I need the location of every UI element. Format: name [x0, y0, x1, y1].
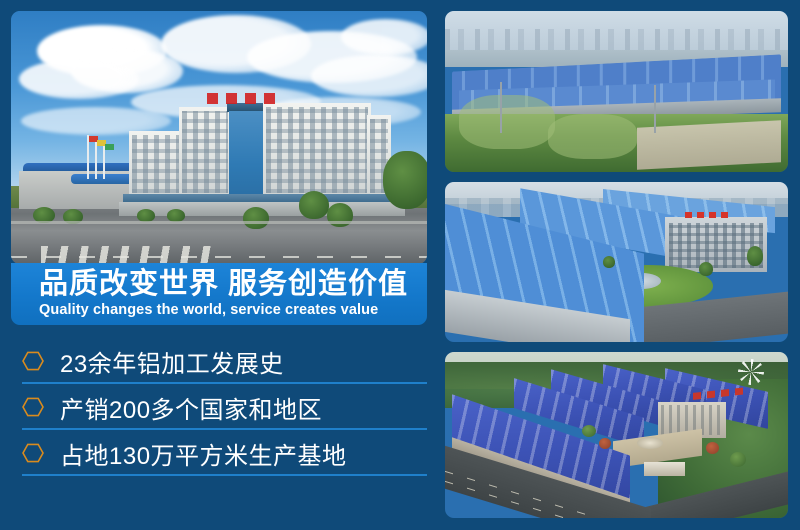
list-item-label: 产销200多个国家和地区: [60, 390, 322, 425]
window-grid: [132, 135, 184, 193]
field-patch: [459, 95, 555, 150]
hero-headquarters-photo: [11, 11, 427, 264]
hexagon-icon: [22, 442, 44, 464]
office-glass-atrium: [229, 111, 265, 201]
tree: [730, 452, 746, 467]
tree: [383, 151, 427, 209]
window-grid: [266, 107, 368, 193]
company-highlights-list: 23余年铝加工发展史 产销200多个国家和地区 占地130万平方米生产基地: [0, 338, 440, 476]
tree: [603, 256, 615, 268]
flag: [105, 144, 114, 150]
rooftop-company-sign: [207, 93, 283, 104]
tree: [582, 425, 596, 437]
cloud-shape: [19, 59, 139, 99]
office-wing-right: [263, 103, 371, 201]
tagline-banner: 品质改变世界 服务创造价值 Quality changes the world,…: [11, 263, 427, 325]
window-grid: [182, 111, 228, 193]
windmill-icon: [738, 359, 764, 385]
field-patch: [548, 114, 637, 159]
tree: [747, 246, 763, 266]
crosswalk-markings: [41, 246, 221, 264]
entrance-gate: [644, 462, 685, 477]
tagline-english: Quality changes the world, service creat…: [39, 301, 427, 319]
cloud-shape: [341, 19, 427, 55]
office-wing-mid: [179, 107, 231, 201]
list-divider: [22, 474, 427, 476]
tagline-chinese: 品质改变世界 服务创造价值: [39, 269, 427, 299]
parking-yard: [637, 120, 781, 169]
rooftop-company-sign: [685, 212, 733, 218]
tree: [299, 191, 329, 219]
power-pylon: [500, 82, 502, 134]
list-item[interactable]: 占地130万平方米生产基地: [0, 430, 440, 476]
list-item[interactable]: 23余年铝加工发展史: [0, 338, 440, 384]
city-skyline: [445, 29, 788, 52]
power-pylon: [654, 85, 656, 133]
ornamental-tree: [706, 442, 719, 454]
hexagon-icon: [22, 396, 44, 418]
industrial-park-photo: [445, 182, 788, 342]
manufacturing-base-rendering: [445, 352, 788, 518]
hexagon-icon: [22, 350, 44, 372]
list-item[interactable]: 产销200多个国家和地区: [0, 384, 440, 430]
aerial-factory-photo: [445, 11, 788, 172]
promotional-banner-page: 品质改变世界 服务创造价值 Quality changes the world,…: [0, 0, 800, 530]
tree: [699, 262, 713, 276]
fountain: [637, 437, 663, 449]
road-kerb: [11, 221, 427, 224]
list-item-label: 占地130万平方米生产基地: [60, 436, 347, 471]
tree: [243, 207, 269, 229]
building-base-band: [123, 194, 395, 202]
road-centre-line: [11, 256, 427, 258]
list-item-label: 23余年铝加工发展史: [60, 344, 284, 379]
